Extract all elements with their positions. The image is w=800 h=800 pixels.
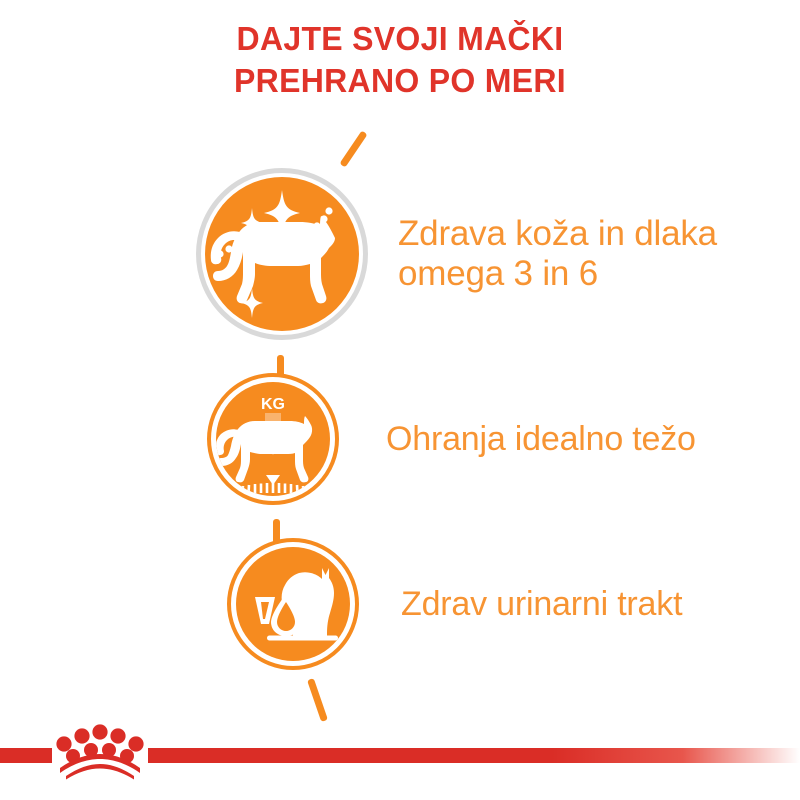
- feature-item-ideal-weight: KG: [207, 373, 756, 505]
- royal-canin-crown-icon: [52, 718, 148, 780]
- cat-weight-scale-icon: KG: [207, 373, 339, 505]
- page-title: DAJTE SVOJI MAČKI PREHRANO PO MERI: [12, 18, 788, 102]
- cat-weight-scale-artwork: KG: [207, 373, 339, 505]
- feature-label-ideal-weight: Ohranja idealno težo: [386, 420, 756, 459]
- cat-sparkle-coat-icon: [196, 168, 368, 340]
- brand-bar-right: [148, 748, 800, 763]
- cat-urinary-droplet-icon: [227, 538, 359, 670]
- feature-item-urinary-health: Zdrav urinarni trakt: [227, 538, 771, 670]
- connector-dash-bottom: [307, 678, 328, 722]
- brand-bar-left: [0, 748, 52, 763]
- promotional-poster: DAJTE SVOJI MAČKI PREHRANO PO MERI: [0, 0, 800, 800]
- kg-label: KG: [261, 396, 285, 413]
- feature-item-healthy-skin-and-coat: Zdrava koža in dlaka omega 3 in 6: [196, 168, 778, 340]
- feature-label-urinary-health: Zdrav urinarni trakt: [401, 585, 771, 624]
- cat-sparkle-coat-artwork: [196, 168, 368, 340]
- headline-line-2: PREHRANO PO MERI: [12, 60, 788, 102]
- headline-line-1: DAJTE SVOJI MAČKI: [12, 18, 788, 60]
- feature-label-healthy-skin-and-coat: Zdrava koža in dlaka omega 3 in 6: [398, 214, 778, 294]
- connector-dash-top: [339, 130, 367, 167]
- cat-urinary-droplet-artwork: [227, 538, 359, 670]
